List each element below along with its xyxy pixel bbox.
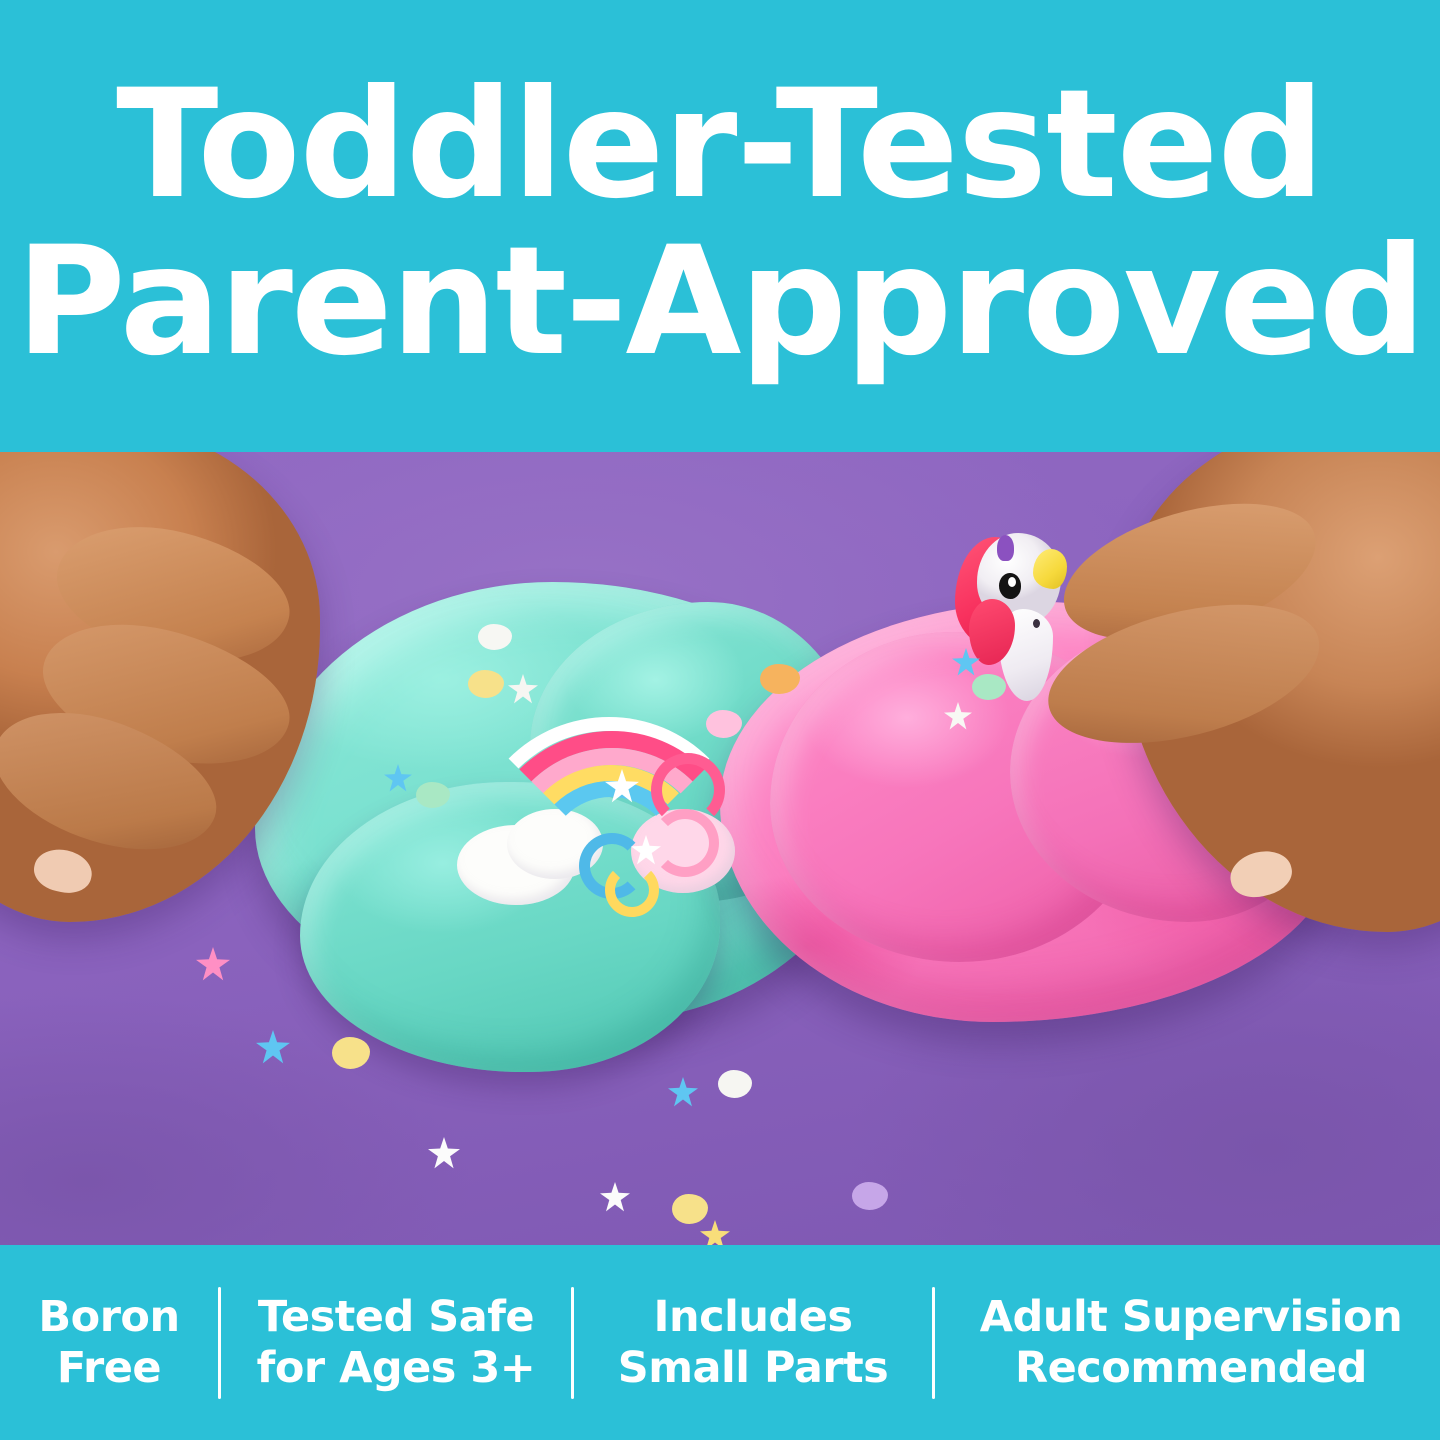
feature-bar: Boron Free Tested Safe for Ages 3+ Inclu… — [0, 1245, 1440, 1440]
feature-label-3: Adult Supervision Recommended — [980, 1292, 1402, 1393]
feature-boron-free: Boron Free — [0, 1245, 218, 1440]
product-photo — [0, 452, 1440, 1245]
feature-small-parts: Includes Small Parts — [574, 1245, 932, 1440]
headline-line-1: Toddler-Tested — [116, 72, 1324, 219]
feature-label-1: Tested Safe for Ages 3+ — [257, 1292, 536, 1393]
feature-tested-safe: Tested Safe for Ages 3+ — [221, 1245, 571, 1440]
feature-label-0: Boron Free — [38, 1292, 179, 1393]
unicorn-ear — [997, 535, 1014, 561]
rainbow-swirl-yellow — [605, 863, 659, 917]
rainbow-swirl-pink-2 — [651, 809, 719, 877]
headline-line-2: Parent-Approved — [16, 229, 1424, 376]
unicorn-horn — [1033, 549, 1067, 589]
header-banner: Toddler-Tested Parent-Approved — [0, 0, 1440, 452]
unicorn-eye-glint — [1008, 577, 1016, 587]
rainbow-dough-mold — [455, 717, 745, 912]
feature-adult-supervision: Adult Supervision Recommended — [935, 1245, 1440, 1440]
product-marketing-image: Toddler-Tested Parent-Approved — [0, 0, 1440, 1440]
feature-label-2: Includes Small Parts — [618, 1292, 888, 1393]
unicorn-nostril — [1033, 619, 1040, 628]
